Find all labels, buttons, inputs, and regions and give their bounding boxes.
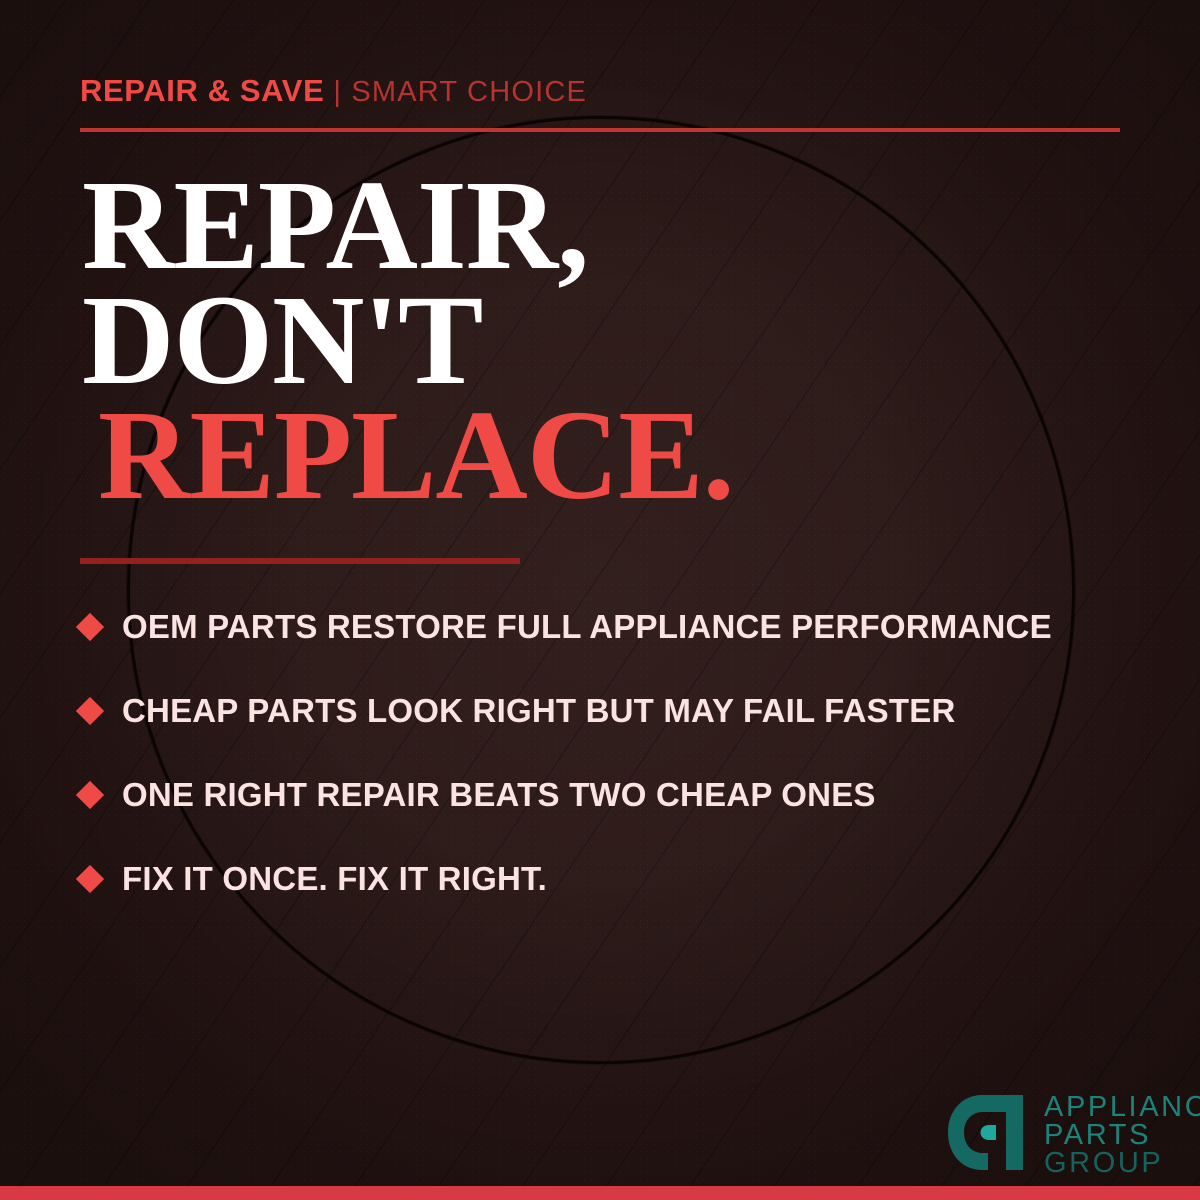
bottom-accent-bar [0, 1186, 1200, 1200]
brand-logo: APPLIANCE PARTS GROUP [944, 1093, 1200, 1177]
brand-line-3: GROUP [1044, 1150, 1200, 1178]
g-monogram-icon [944, 1093, 1030, 1172]
benefit-list: OEM PARTS RESTORE FULL APPLIANCE PERFORM… [80, 585, 1150, 921]
list-item: ONE RIGHT REPAIR BEATS TWO CHEAP ONES [80, 753, 1150, 837]
diamond-icon [76, 613, 104, 641]
poster-canvas: REPAIR & SAVE| SMART CHOICE REPAIR, DON'… [0, 0, 1200, 1200]
brand-line-2: PARTS [1044, 1122, 1200, 1150]
brand-wordmark: APPLIANCE PARTS GROUP [1044, 1093, 1200, 1177]
list-item: OEM PARTS RESTORE FULL APPLIANCE PERFORM… [80, 585, 1150, 669]
eyebrow-light: | SMART CHOICE [333, 76, 587, 108]
headline: REPAIR, DON'T REPLACE. [82, 168, 734, 514]
list-item-label: OEM PARTS RESTORE FULL APPLIANCE PERFORM… [122, 608, 1052, 646]
brand-line-1: APPLIANCE [1044, 1094, 1200, 1122]
list-item: CHEAP PARTS LOOK RIGHT BUT MAY FAIL FAST… [80, 669, 1150, 753]
headline-line-3: REPLACE. [98, 398, 734, 513]
eyebrow-strong: REPAIR & SAVE [80, 73, 324, 108]
headline-line-2: DON'T [82, 283, 734, 398]
list-item-label: ONE RIGHT REPAIR BEATS TWO CHEAP ONES [122, 776, 876, 814]
diamond-icon [76, 781, 104, 809]
headline-line-1: REPAIR, [82, 168, 734, 283]
diamond-icon [76, 865, 104, 893]
list-item: FIX IT ONCE. FIX IT RIGHT. [80, 837, 1150, 921]
poster-content: REPAIR & SAVE| SMART CHOICE REPAIR, DON'… [0, 0, 1200, 1200]
diamond-icon [76, 697, 104, 725]
list-item-label: CHEAP PARTS LOOK RIGHT BUT MAY FAIL FAST… [122, 692, 955, 730]
top-divider-rule [80, 128, 1120, 132]
mid-divider-rule [80, 558, 520, 564]
list-item-label: FIX IT ONCE. FIX IT RIGHT. [122, 860, 547, 898]
eyebrow: REPAIR & SAVE| SMART CHOICE [80, 75, 587, 107]
